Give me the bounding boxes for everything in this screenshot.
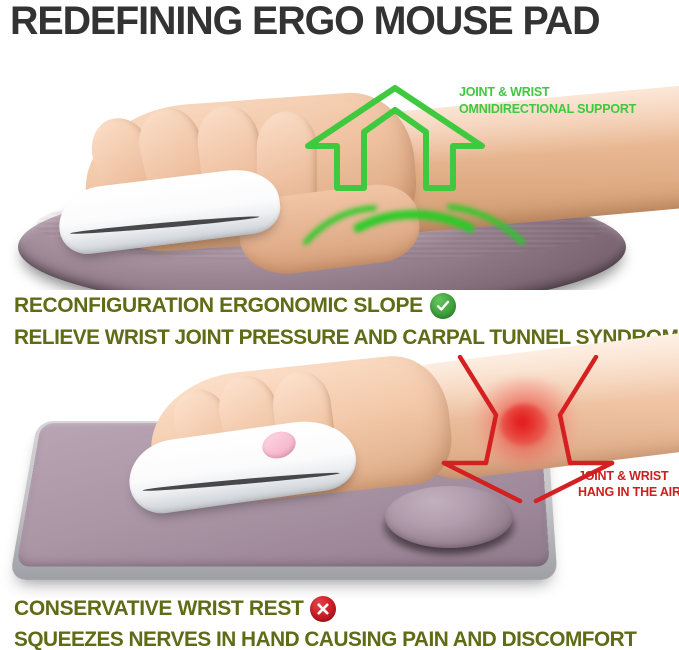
benefit-line-1-row: RECONFIGURATION ERGONOMIC SLOPE bbox=[14, 293, 674, 319]
callout-green-line2: OMNIDIRECTIONAL SUPPORT bbox=[459, 101, 679, 118]
drawback-line-1-row: CONSERVATIVE WRIST REST bbox=[14, 596, 674, 622]
callout-green: JOINT & WRIST OMNIDIRECTIONAL SUPPORT bbox=[459, 84, 679, 117]
benefit-line-1: RECONFIGURATION ERGONOMIC SLOPE bbox=[14, 294, 423, 318]
top-product-photo: JOINT & WRIST OMNIDIRECTIONAL SUPPORT bbox=[0, 40, 679, 290]
page-title: REDEFINING ERGO MOUSE PAD bbox=[10, 2, 660, 40]
mouse-seam bbox=[142, 471, 340, 493]
drawback-line-1: CONSERVATIVE WRIST REST bbox=[14, 597, 303, 621]
drawback-line-2: SQUEEZES NERVES IN HAND CAUSING PAIN AND… bbox=[14, 628, 667, 650]
check-circle-icon bbox=[430, 293, 456, 319]
callout-red: JOINT & WRIST HANG IN THE AIR bbox=[578, 468, 679, 500]
product-infographic: REDEFINING ERGO MOUSE PAD bbox=[0, 0, 679, 650]
benefit-text-block: RECONFIGURATION ERGONOMIC SLOPE RELIEVE … bbox=[14, 293, 674, 350]
callout-red-line2: HANG IN THE AIR bbox=[578, 484, 679, 500]
mouse-seam bbox=[70, 214, 260, 236]
callout-red-line1: JOINT & WRIST bbox=[578, 468, 679, 484]
callout-green-line1: JOINT & WRIST bbox=[459, 84, 679, 101]
x-circle-icon bbox=[310, 596, 336, 622]
drawback-text-block: CONSERVATIVE WRIST REST SQUEEZES NERVES … bbox=[14, 596, 674, 650]
